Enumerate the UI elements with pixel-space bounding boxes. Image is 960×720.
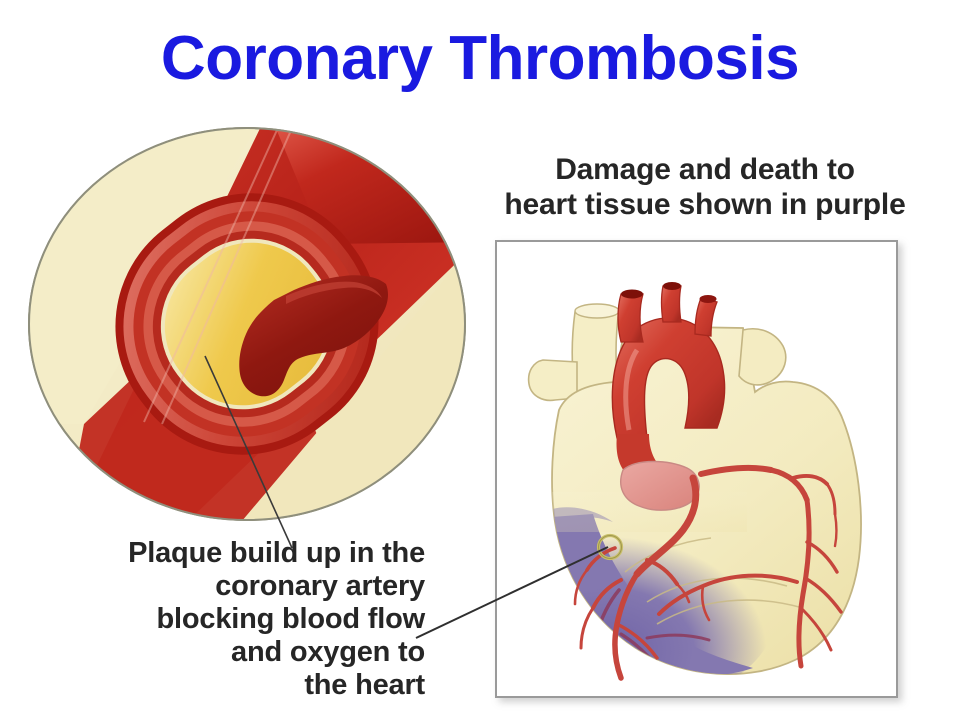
artery-caption-line-5: the heart bbox=[20, 669, 425, 702]
heart-figure-box bbox=[495, 240, 898, 698]
infarct-purple-region bbox=[517, 492, 777, 696]
heart-illustration bbox=[497, 242, 896, 696]
heart-caption-line-2: heart tissue shown in purple bbox=[460, 187, 950, 222]
heart-caption-line-1: Damage and death to bbox=[460, 152, 950, 187]
heart-caption: Damage and death to heart tissue shown i… bbox=[460, 152, 950, 222]
artery-caption-line-4: and oxygen to bbox=[20, 636, 425, 669]
artery-caption: Plaque build up in the coronary artery b… bbox=[20, 537, 425, 702]
slide-canvas: Coronary Thrombosis bbox=[0, 0, 960, 720]
page-title: Coronary Thrombosis bbox=[0, 26, 960, 91]
artery-caption-line-3: blocking blood flow bbox=[20, 603, 425, 636]
pulmonary-veins-left bbox=[529, 360, 577, 400]
artery-caption-line-2: coronary artery bbox=[20, 570, 425, 603]
artery-caption-line-1: Plaque build up in the bbox=[20, 537, 425, 570]
artery-cross-section-illustration bbox=[24, 124, 470, 534]
pulmonary-trunk bbox=[621, 462, 699, 511]
